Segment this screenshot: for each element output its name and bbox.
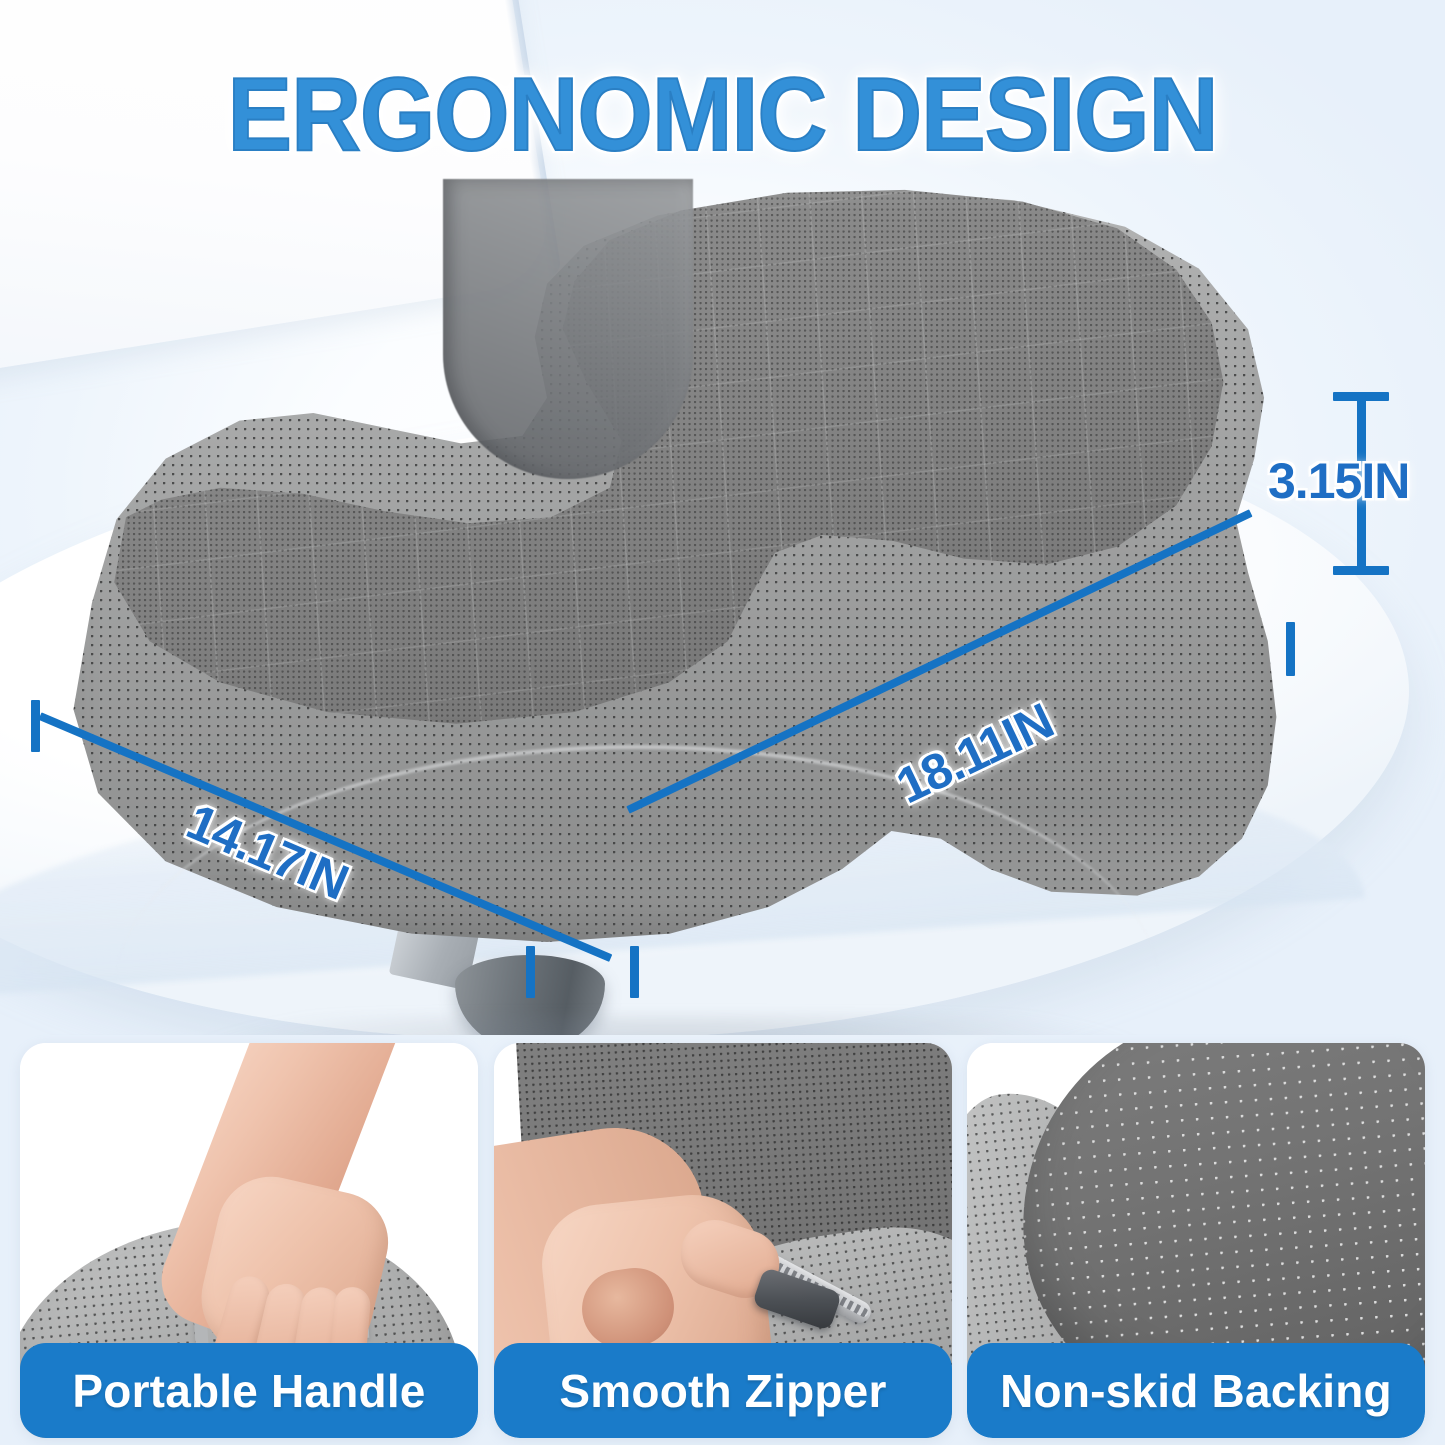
feature-caption-non-skid-backing: Non-skid Backing: [967, 1343, 1425, 1438]
baseline-tick-right: [630, 946, 639, 998]
feature-panel-portable-handle: Portable Handle: [20, 1043, 478, 1438]
hero-product-section: ERGONOMIC DESIGN 3.15IN 18.11IN 14.17IN: [0, 0, 1445, 1035]
baseline-tick-left: [526, 946, 535, 998]
page-title: ERGONOMIC DESIGN: [51, 56, 1395, 175]
height-dimension-label: 3.15IN: [1268, 452, 1409, 510]
length-dimension-tick: [1286, 622, 1295, 676]
feature-caption-portable-handle: Portable Handle: [20, 1343, 478, 1438]
cushion-coccyx-cutout: [443, 179, 693, 479]
cushion-drop-shadow: [165, 1015, 1175, 1035]
width-dimension-tick: [31, 700, 40, 752]
height-dimension-tick-bottom: [1333, 566, 1389, 575]
feature-panel-smooth-zipper: Smooth Zipper: [494, 1043, 952, 1438]
feature-panel-non-skid-backing: Non-skid Backing: [967, 1043, 1425, 1438]
infographic-canvas: ERGONOMIC DESIGN 3.15IN 18.11IN 14.17IN: [0, 0, 1445, 1445]
feature-panel-row: Portable Handle Smooth Zipper Non-skid: [0, 1040, 1445, 1445]
feature-caption-smooth-zipper: Smooth Zipper: [494, 1343, 952, 1438]
